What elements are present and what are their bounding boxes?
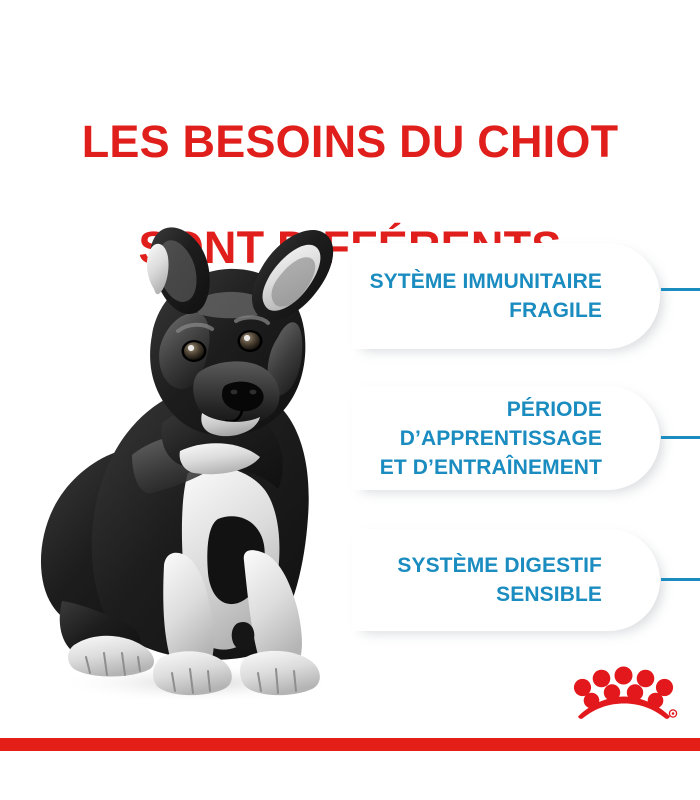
benefit-connector-line-3: [661, 578, 700, 581]
bottom-accent-bar: [0, 738, 700, 751]
benefit-connector-line-2: [661, 436, 700, 439]
puppy-photo: [12, 205, 372, 705]
benefit-card-digestive-system-label: SYSTÈME DIGESTIF SENSIBLE: [397, 551, 660, 609]
benefit-card-immune-system-label: SYTÈME IMMUNITAIRE FRAGILE: [370, 267, 660, 325]
benefit-card-immune-system: SYTÈME IMMUNITAIRE FRAGILE: [352, 243, 660, 349]
benefit-card-learning-period: PÉRIODE D’APPRENTISSAGE ET D’ENTRAÎNEMEN…: [352, 386, 660, 490]
benefit-connector-line-1: [661, 288, 700, 291]
benefit-card-learning-period-label: PÉRIODE D’APPRENTISSAGE ET D’ENTRAÎNEMEN…: [380, 395, 660, 482]
benefit-card-digestive-system: SYSTÈME DIGESTIF SENSIBLE: [352, 529, 660, 631]
page-title-line-1: LES BESOINS DU CHIOT: [0, 115, 700, 168]
royal-canin-crown-icon: [568, 664, 680, 722]
puppy-needs-infographic: LES BESOINS DU CHIOT SONT DIFFÉRENTS: [0, 0, 700, 800]
